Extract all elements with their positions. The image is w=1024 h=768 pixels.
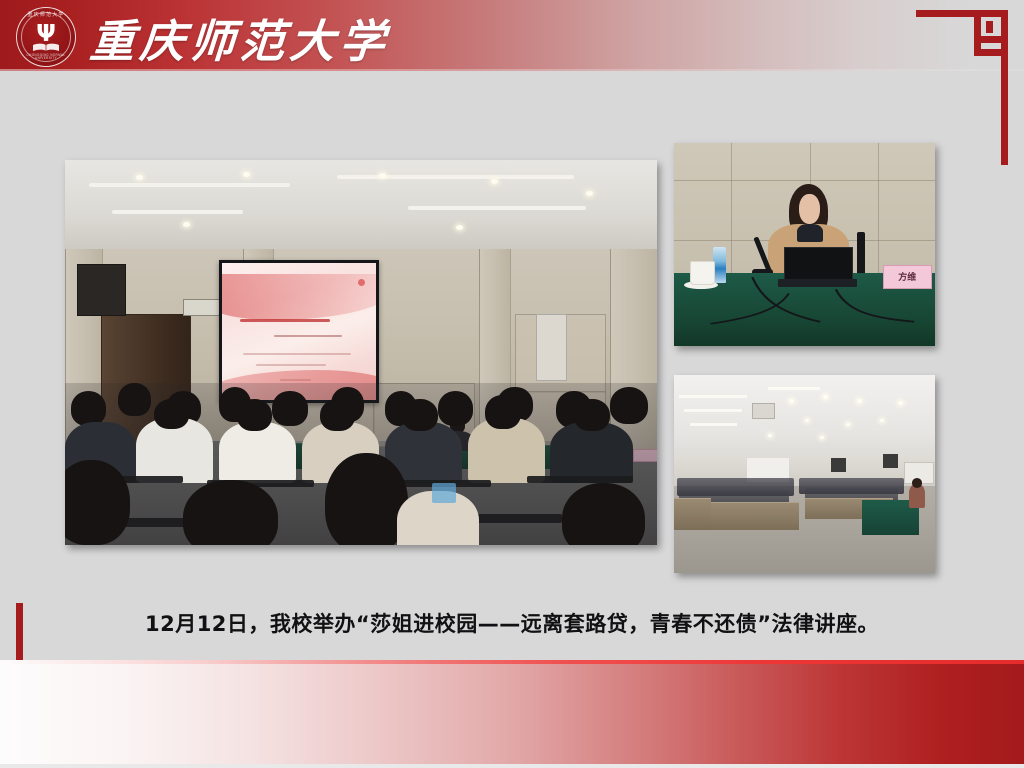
- ceiling-strip: [89, 183, 290, 187]
- ceiling-light: [823, 395, 828, 399]
- wall-panel-line: [878, 143, 879, 273]
- desk-row: [674, 498, 711, 531]
- person-head: [485, 395, 521, 430]
- seal-book-icon: [32, 43, 60, 52]
- person-head: [237, 399, 273, 432]
- cables: [674, 269, 935, 346]
- slide-body-line: [256, 364, 327, 366]
- ceiling-light: [805, 419, 809, 422]
- person-head: [912, 478, 922, 488]
- ceiling-light: [243, 172, 250, 177]
- header-banner: 重庆师范大学 Ψ CHONGQING NORMAL UNIVERSITY 重庆师…: [0, 0, 1024, 71]
- lecture-hall-wide-photo: [674, 375, 935, 573]
- slide-body-line: [243, 353, 351, 355]
- university-wordmark: 重庆师范大学: [88, 6, 392, 68]
- slide-subtitle-line: [274, 335, 342, 337]
- person-head: [438, 391, 474, 426]
- person-head: [610, 387, 648, 424]
- ceiling-light: [789, 399, 794, 403]
- speaker-inner-top: [797, 224, 823, 242]
- ceiling-strip: [337, 175, 574, 179]
- ceiling-projector: [752, 403, 775, 419]
- exit-sign: [183, 299, 221, 316]
- projection-screen: [219, 260, 379, 402]
- lecture-hall-audience-photo: [65, 160, 657, 545]
- desk-row: [705, 502, 799, 531]
- person-body: [550, 422, 633, 484]
- person-head: [65, 460, 130, 545]
- presentation-slide: 重庆师范大学 Ψ CHONGQING NORMAL UNIVERSITY 重庆师…: [0, 0, 1024, 768]
- person-head: [272, 391, 308, 426]
- ceiling-strip: [768, 387, 820, 390]
- ceiling-light: [880, 419, 884, 422]
- footer-gradient-band: [0, 660, 1024, 768]
- chinese-corner-ornament-top-right: [900, 0, 1024, 165]
- person-head: [320, 399, 356, 432]
- ceiling-light: [857, 399, 862, 403]
- slide-swoosh: [222, 274, 376, 320]
- wall-panel-line: [731, 143, 732, 273]
- ceiling-light: [846, 423, 850, 426]
- slide-title-line: [240, 319, 329, 322]
- speaker-face: [799, 194, 820, 224]
- ceiling-strip: [112, 210, 242, 214]
- person-head: [118, 383, 151, 416]
- ceiling: [65, 160, 657, 249]
- wall-speaker: [883, 454, 899, 468]
- person-head: [562, 483, 645, 545]
- handheld-item: [432, 483, 456, 502]
- person-head: [71, 391, 107, 426]
- university-seal-icon: 重庆师范大学 Ψ CHONGQING NORMAL UNIVERSITY: [16, 7, 76, 67]
- wall-panel-line: [674, 180, 935, 181]
- ceiling-light: [586, 191, 593, 196]
- ceiling-light: [183, 222, 190, 227]
- person-head: [325, 453, 408, 545]
- slide-caption: 12月12日，我校举办“莎姐进校园——远离套路贷，青春不还债”法律讲座。: [0, 608, 1024, 638]
- person-body: [219, 422, 296, 484]
- wall-panel-light: [536, 314, 568, 381]
- chair-rail: [527, 476, 634, 484]
- footer-edge-line: [0, 764, 1024, 768]
- person-head: [574, 399, 610, 432]
- person-head: [154, 399, 190, 430]
- wall-speaker: [831, 458, 847, 472]
- ceiling-strip: [408, 206, 586, 210]
- wall-speaker: [77, 264, 126, 316]
- seal-arc-top-text: 重庆师范大学: [17, 13, 75, 18]
- speaker-podium-photo: 方维: [674, 143, 935, 346]
- projected-slide: [222, 263, 376, 399]
- ceiling-strip: [690, 423, 737, 426]
- person-head: [402, 399, 438, 432]
- person-head: [183, 480, 278, 545]
- slide-body-line: [280, 379, 311, 381]
- ceiling-strip: [679, 395, 747, 398]
- seal-arc-bottom-text: CHONGQING NORMAL UNIVERSITY: [18, 54, 73, 60]
- ceiling-strip: [684, 409, 741, 412]
